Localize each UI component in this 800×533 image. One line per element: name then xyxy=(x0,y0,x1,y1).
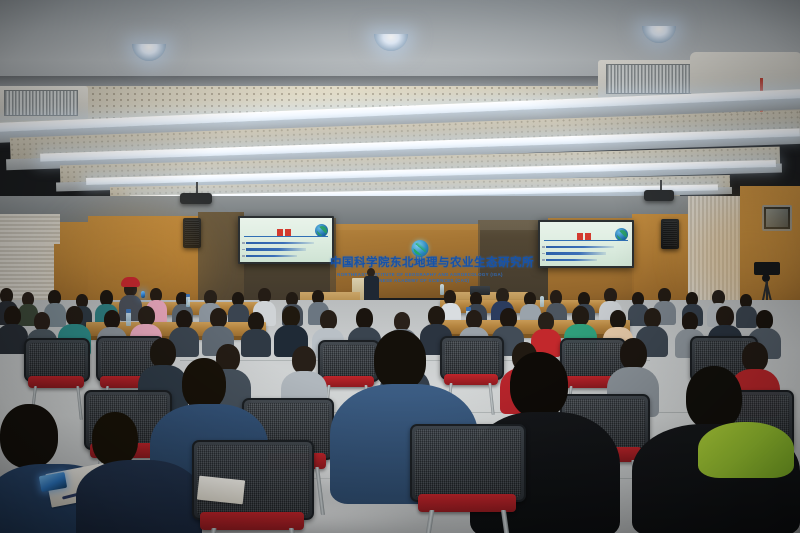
bottle-cap xyxy=(126,309,131,313)
slide-bullet-line xyxy=(546,259,598,261)
acoustic-wall-panel-left-upper xyxy=(0,214,60,244)
handout-paper xyxy=(197,476,245,505)
hoodie-hood xyxy=(698,422,794,478)
hvac-vent xyxy=(606,64,692,94)
banner-english-line1: NORTHEAST INSTITUTE OF GEOGRAPHY AND AGR… xyxy=(330,273,510,277)
slide-bullet-line xyxy=(246,242,314,244)
slide-divider-rule xyxy=(244,236,329,238)
wall-speaker-left xyxy=(183,218,201,248)
ceiling-projector xyxy=(644,190,674,201)
slide-bullet-line xyxy=(246,255,298,257)
water-bottle xyxy=(440,284,444,295)
water-bottle xyxy=(126,312,131,326)
audience-member-green-hoodie xyxy=(632,366,800,533)
water-bottle xyxy=(540,296,544,307)
slide-bullet-line xyxy=(546,246,614,248)
banner-chinese-title: 中国科学院东北地理与农业生态研究所 xyxy=(330,258,510,270)
wall-mounted-monitor xyxy=(762,205,792,231)
water-bottle xyxy=(186,296,190,307)
wall-speaker-right xyxy=(661,219,679,249)
hvac-vent xyxy=(4,90,78,116)
slide-right xyxy=(540,222,632,266)
projection-screen-right xyxy=(538,220,634,268)
institute-banner: 中国科学院东北地理与农业生态研究所 NORTHEAST INSTITUTE OF… xyxy=(330,240,510,283)
smartphone xyxy=(141,291,145,298)
ceiling-projector xyxy=(180,193,212,204)
bottle-cap xyxy=(186,294,190,297)
slide-left xyxy=(240,218,332,262)
lecture-hall-photo: 中国科学院东北地理与农业生态研究所 NORTHEAST INSTITUTE OF… xyxy=(0,0,800,533)
slide-divider-rule xyxy=(544,240,629,242)
slide-bullet-line xyxy=(246,248,307,250)
projection-screen-left xyxy=(238,216,334,264)
red-bucket-hat xyxy=(121,277,140,287)
slide-bullet-line xyxy=(546,252,607,254)
video-camera xyxy=(754,262,780,275)
institute-globe-logo xyxy=(412,240,429,257)
